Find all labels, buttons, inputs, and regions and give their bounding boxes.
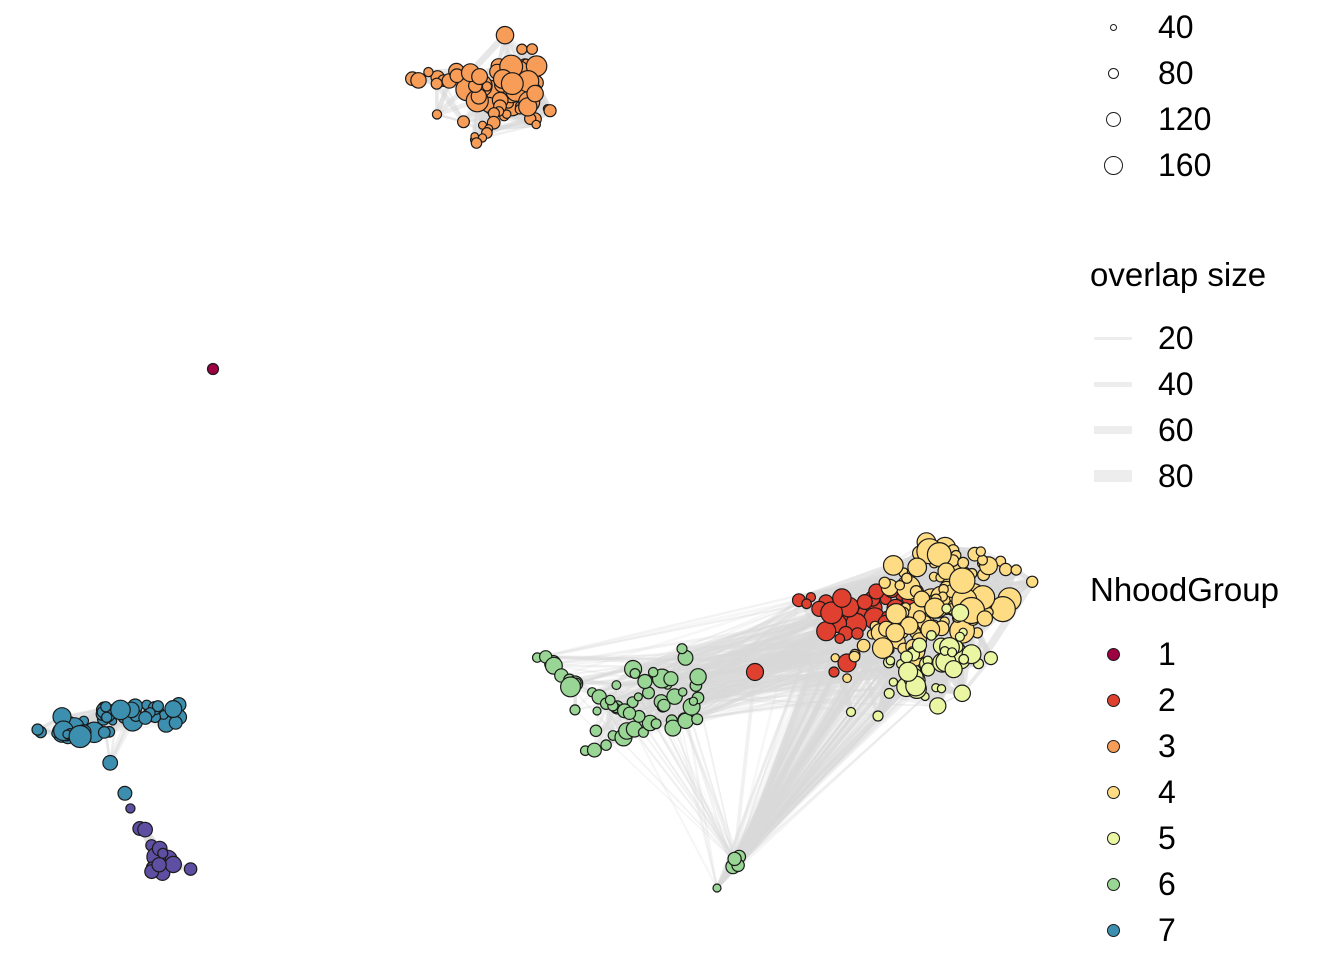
graph-node[interactable] — [690, 669, 706, 685]
graph-node[interactable] — [517, 44, 527, 54]
graph-node[interactable] — [158, 848, 168, 858]
graph-node[interactable] — [184, 863, 196, 875]
graph-node[interactable] — [658, 699, 670, 711]
graph-node[interactable] — [102, 712, 112, 722]
graph-node[interactable] — [139, 712, 152, 725]
graph-node[interactable] — [169, 716, 182, 729]
graph-node[interactable] — [432, 110, 441, 119]
graph-node[interactable] — [472, 69, 488, 85]
graph-node[interactable] — [208, 364, 219, 375]
graph-node[interactable] — [544, 105, 556, 117]
graph-node[interactable] — [69, 726, 91, 748]
graph-node[interactable] — [527, 44, 538, 55]
graph-node[interactable] — [713, 884, 721, 892]
graph-node[interactable] — [411, 73, 426, 88]
graph-node[interactable] — [501, 73, 523, 95]
graph-node[interactable] — [638, 675, 652, 689]
figure-root: 40 80 120 160 over — [0, 0, 1344, 960]
graph-node[interactable] — [458, 116, 470, 128]
graph-node[interactable] — [692, 714, 703, 725]
graph-node[interactable] — [728, 852, 741, 865]
graph-node[interactable] — [679, 688, 687, 696]
graph-nodes-layer — [32, 27, 1038, 893]
graph-node[interactable] — [527, 85, 543, 101]
graph-node[interactable] — [664, 672, 678, 686]
graph-node[interactable] — [165, 856, 181, 872]
graph-edges-layer — [38, 35, 1033, 888]
graph-node[interactable] — [496, 27, 513, 44]
graph-node[interactable] — [32, 724, 43, 735]
graph-node[interactable] — [431, 78, 442, 89]
graph-node[interactable] — [570, 705, 580, 715]
graph-node[interactable] — [126, 804, 135, 813]
graph-node[interactable] — [99, 727, 111, 739]
graph-node[interactable] — [590, 725, 601, 736]
network-plot-panel — [0, 0, 1060, 960]
graph-node[interactable] — [152, 858, 166, 872]
graph-node[interactable] — [103, 756, 118, 771]
graph-node[interactable] — [623, 707, 635, 719]
graph-node[interactable] — [630, 669, 640, 679]
graph-node[interactable] — [612, 681, 621, 690]
graph-node[interactable] — [111, 700, 130, 719]
graph-node[interactable] — [677, 644, 687, 654]
graph-node[interactable] — [561, 677, 581, 697]
graph-node[interactable] — [593, 707, 601, 715]
graph-node[interactable] — [588, 743, 602, 757]
network-graph-canvas — [0, 0, 1060, 960]
graph-node[interactable] — [424, 68, 433, 77]
graph-node[interactable] — [138, 822, 153, 837]
graph-node[interactable] — [118, 786, 132, 800]
graph-node[interactable] — [165, 701, 182, 718]
graph-node[interactable] — [634, 693, 642, 701]
graph-node[interactable] — [689, 697, 697, 705]
graph-node[interactable] — [101, 702, 111, 712]
graph-node[interactable] — [649, 668, 658, 677]
graph-node[interactable] — [532, 120, 540, 128]
graph-node[interactable] — [471, 138, 481, 148]
graph-node[interactable] — [605, 695, 615, 705]
graph-node[interactable] — [601, 740, 611, 750]
graph-node[interactable] — [651, 719, 661, 729]
